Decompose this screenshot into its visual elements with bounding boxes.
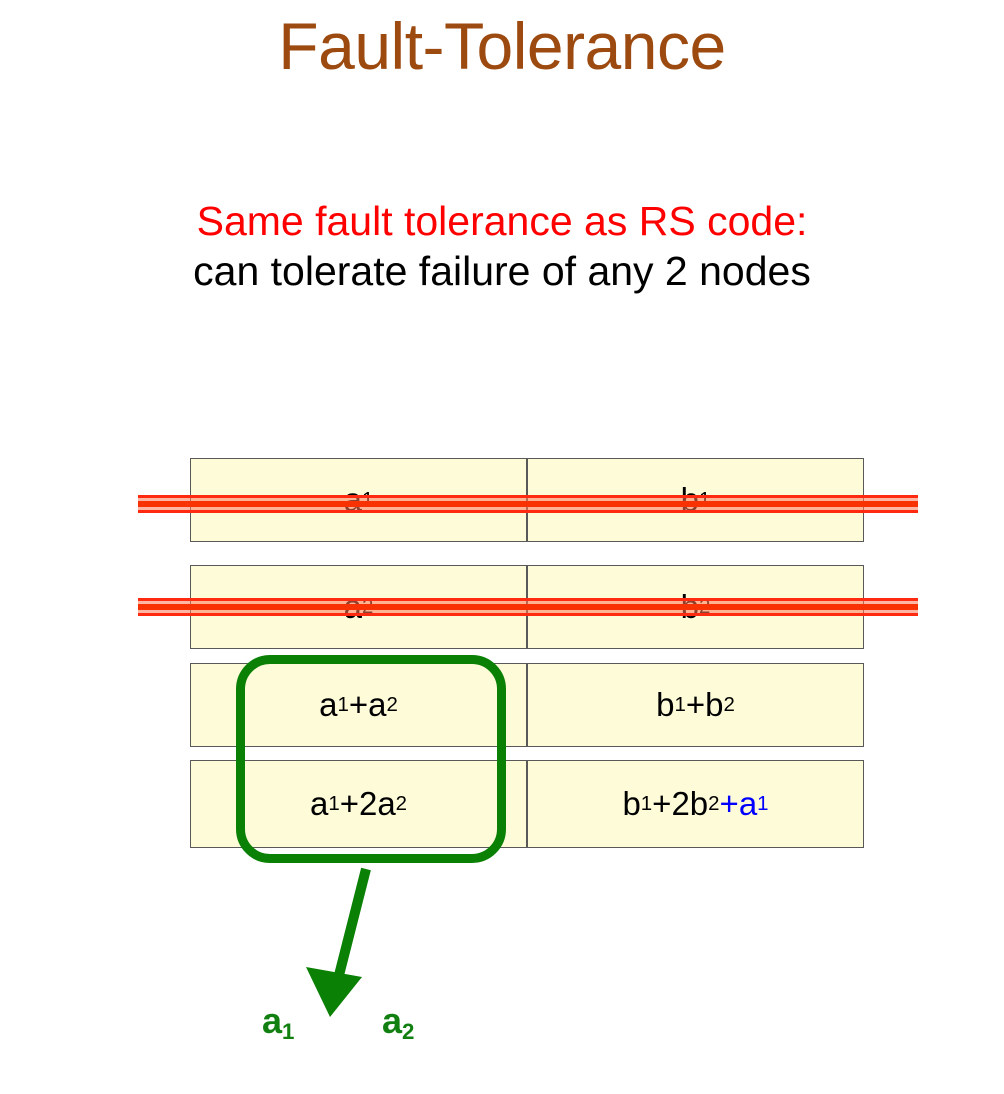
subtitle-line-tolerate-failure: can tolerate failure of any 2 nodes <box>0 246 1004 296</box>
recovered-symbol-a2: a2 <box>382 1000 414 1042</box>
subtitle-block: Same fault tolerance as RS code: can tol… <box>0 196 1004 296</box>
page-title: Fault-Tolerance <box>0 12 1004 81</box>
symbol-subscript: 1 <box>282 1019 294 1044</box>
symbol-base: a <box>344 588 362 626</box>
recovered-symbol-a1: a1 <box>262 1000 294 1042</box>
table-cell-node4-right: b1+2b2+a1 <box>527 760 864 848</box>
symbol-base: a <box>382 1000 402 1041</box>
table-row: a1 b1 <box>190 458 864 542</box>
symbol-base: b <box>656 686 674 724</box>
symbol-base: a <box>319 686 337 724</box>
table-row: a1+2a2 b1+2b2+a1 <box>190 760 864 848</box>
symbol-base: b <box>705 686 723 724</box>
symbol-operator: + <box>349 686 368 724</box>
subtitle-line-fault-tolerance: Same fault tolerance as RS code: <box>0 196 1004 246</box>
table-row: a1+a2 b1+b2 <box>190 663 864 747</box>
symbol-base: a <box>262 1000 282 1041</box>
symbol-base: b <box>681 588 699 626</box>
table-cell-node1-right: b1 <box>527 458 864 542</box>
symbol-operator: +2 <box>340 785 378 823</box>
table-row: a2 b2 <box>190 565 864 649</box>
table-cell-node2-right: b2 <box>527 565 864 649</box>
table-cell-node2-left: a2 <box>190 565 527 649</box>
symbol-base: b <box>690 785 708 823</box>
table-cell-node3-left: a1+a2 <box>190 663 527 747</box>
symbol-operator-extra: + <box>720 785 739 823</box>
symbol-operator: +2 <box>652 785 690 823</box>
table-cell-node3-right: b1+b2 <box>527 663 864 747</box>
table-cell-node1-left: a1 <box>190 458 527 542</box>
table-cell-node4-left: a1+2a2 <box>190 760 527 848</box>
symbol-base: b <box>622 785 640 823</box>
symbol-base-extra: a <box>739 785 757 823</box>
symbol-base: b <box>681 481 699 519</box>
symbol-base: a <box>368 686 386 724</box>
symbol-base: a <box>344 481 362 519</box>
symbol-subscript: 2 <box>402 1019 414 1044</box>
symbol-operator: + <box>686 686 705 724</box>
symbol-base: a <box>377 785 395 823</box>
symbol-base: a <box>310 785 328 823</box>
